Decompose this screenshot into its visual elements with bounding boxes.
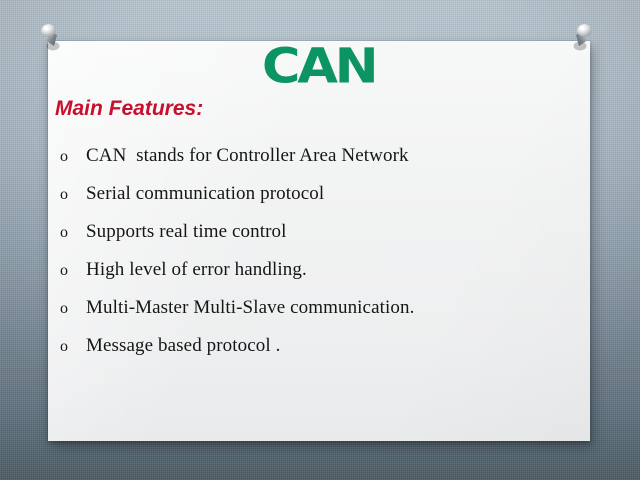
page-title: Main Features: — [55, 97, 203, 121]
list-item: o CAN stands for Controller Area Network — [56, 145, 576, 183]
bullet-circle-icon: o — [56, 148, 86, 166]
list-item: o High level of error handling. — [56, 259, 576, 297]
list-item: o Supports real time control — [56, 221, 576, 259]
list-item: o Multi-Master Multi-Slave communication… — [56, 297, 576, 335]
list-item-label: CAN stands for Controller Area Network — [86, 145, 409, 167]
list-item-label: Serial communication protocol — [86, 183, 324, 205]
paper-card: CAN Main Features: o CAN stands for Cont… — [48, 41, 590, 441]
list-item: o Message based protocol . — [56, 335, 576, 373]
bullet-circle-icon: o — [56, 224, 86, 242]
list-item-label: Multi-Master Multi-Slave communication. — [86, 297, 414, 319]
bullet-circle-icon: o — [56, 300, 86, 318]
list-item: o Serial communication protocol — [56, 183, 576, 221]
list-item-label: High level of error handling. — [86, 259, 307, 281]
features-list: o CAN stands for Controller Area Network… — [56, 145, 576, 373]
bullet-circle-icon: o — [56, 186, 86, 204]
list-item-label: Message based protocol . — [86, 335, 280, 357]
can-logo-text: CAN — [258, 43, 380, 91]
bullet-circle-icon: o — [56, 262, 86, 280]
list-item-label: Supports real time control — [86, 221, 286, 243]
slide-canvas: CAN Main Features: o CAN stands for Cont… — [0, 0, 640, 480]
bullet-circle-icon: o — [56, 338, 86, 356]
can-logo: CAN — [48, 43, 590, 90]
